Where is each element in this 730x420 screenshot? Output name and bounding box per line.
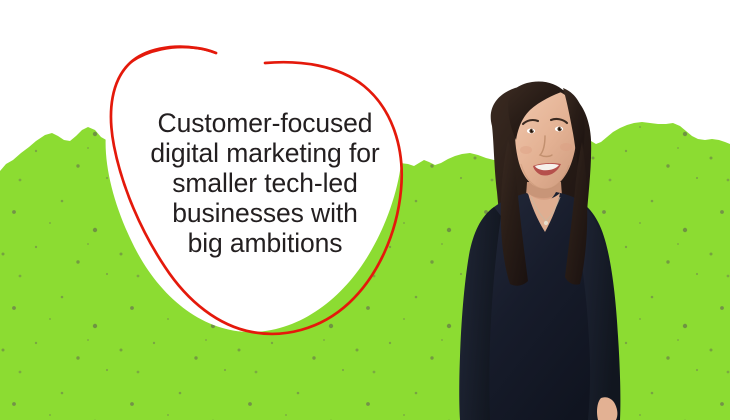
eye-highlight-right — [560, 127, 561, 128]
banner-canvas: Customer-focused digital marketing for s… — [0, 0, 730, 420]
necklace-pendant — [544, 221, 548, 225]
eye-highlight-left — [532, 129, 533, 130]
banner-artwork — [0, 0, 730, 420]
cheek-blush-right — [560, 143, 572, 151]
pupil-right — [559, 128, 561, 130]
pupil-left — [531, 130, 533, 132]
cheek-blush-left — [520, 146, 532, 154]
